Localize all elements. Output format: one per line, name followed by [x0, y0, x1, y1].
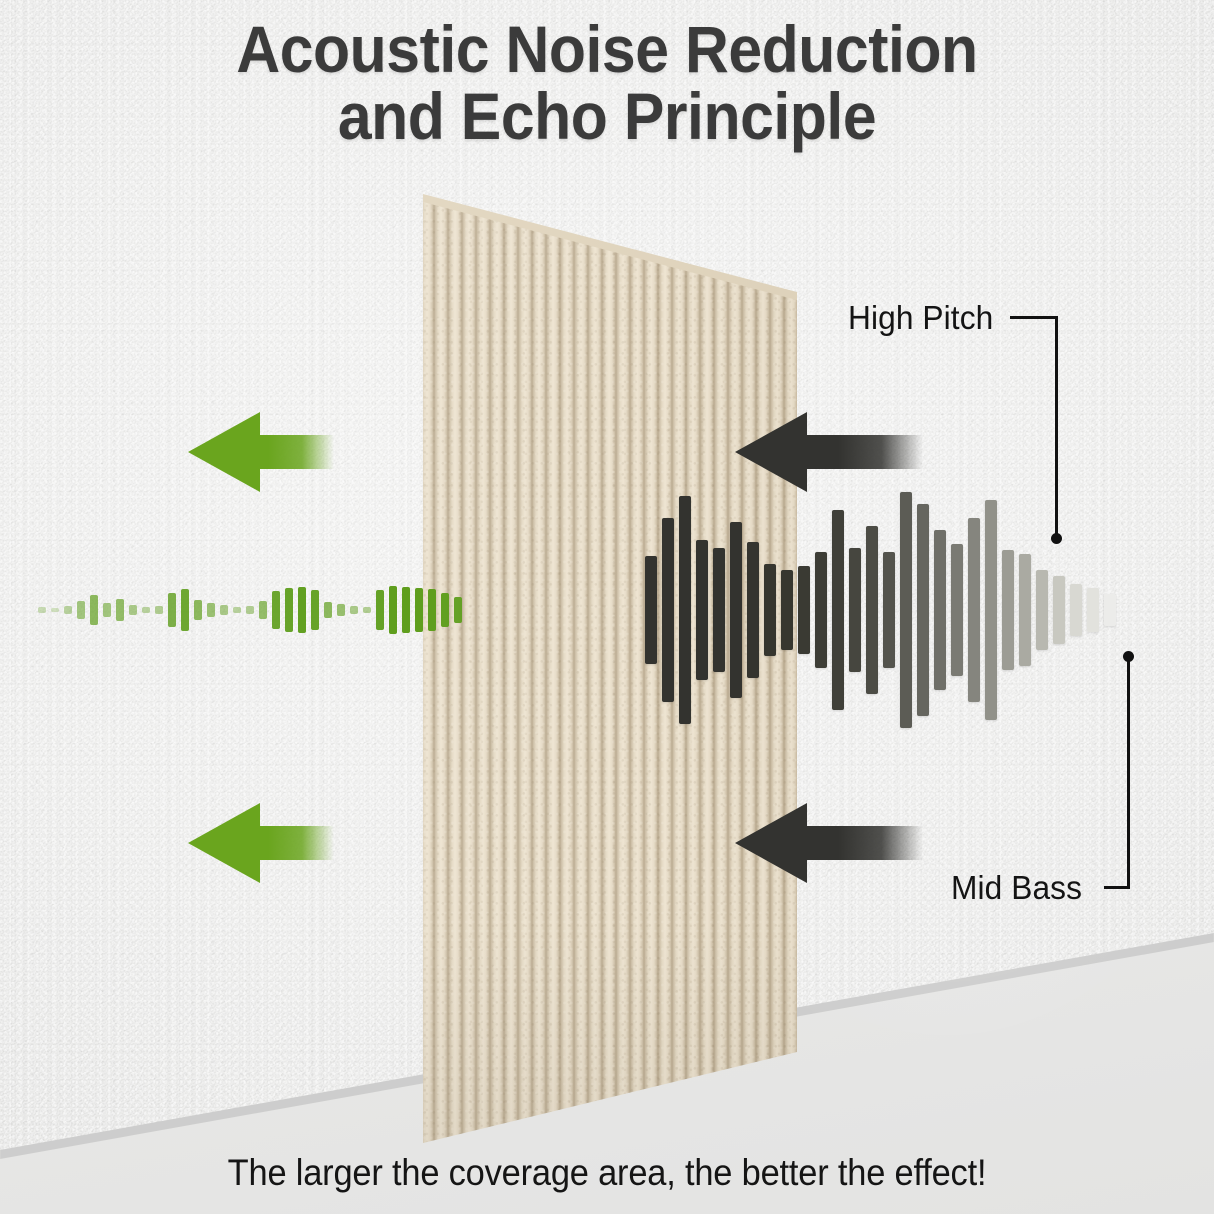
leader-vertical-segment — [1127, 656, 1130, 887]
leader-endpoint-dot — [1123, 651, 1134, 662]
label-high-pitch: High Pitch — [848, 299, 993, 337]
infographic-canvas: Acoustic Noise Reduction and Echo Princi… — [0, 0, 1214, 1214]
footer-caption: The larger the coverage area, the better… — [42, 1152, 1171, 1194]
mid-bass-leader — [0, 0, 1214, 1214]
label-mid-bass: Mid Bass — [951, 869, 1082, 907]
page-title: Acoustic Noise Reduction and Echo Princi… — [49, 16, 1166, 151]
